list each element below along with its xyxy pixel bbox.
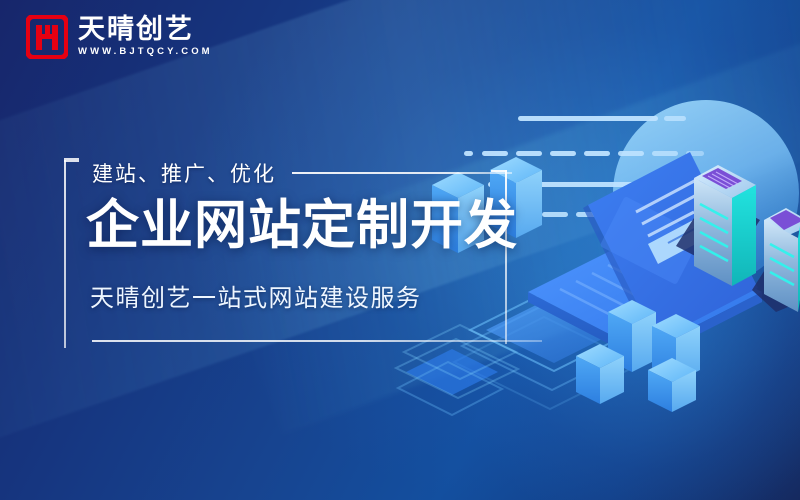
hero-banner: 天晴创艺 WWW.BJTQCY.COM 建站、推广、优化 企业网站定制开发 天晴… — [0, 0, 800, 500]
hero-eyebrow-rule — [292, 172, 512, 174]
brand-website: WWW.BJTQCY.COM — [78, 44, 213, 59]
hero-copy-block: 建站、推广、优化 企业网站定制开发 天晴创艺一站式网站建设服务 — [64, 160, 524, 350]
hero-headline: 企业网站定制开发 — [86, 196, 518, 255]
tianqing-square-logo-icon — [26, 15, 68, 59]
hero-eyebrow: 建站、推广、优化 — [92, 158, 276, 188]
bracket-left-top-stub — [64, 160, 79, 162]
bracket-left-bottom-stub — [64, 158, 79, 160]
hero-eyebrow-row: 建站、推广、优化 — [92, 158, 512, 188]
hero-bottom-rule — [92, 340, 542, 342]
bracket-left-vertical — [64, 160, 66, 348]
hero-subline: 天晴创艺一站式网站建设服务 — [90, 278, 422, 313]
brand-logo[interactable]: 天晴创艺 WWW.BJTQCY.COM — [26, 15, 213, 60]
brand-name: 天晴创艺 — [78, 15, 213, 43]
